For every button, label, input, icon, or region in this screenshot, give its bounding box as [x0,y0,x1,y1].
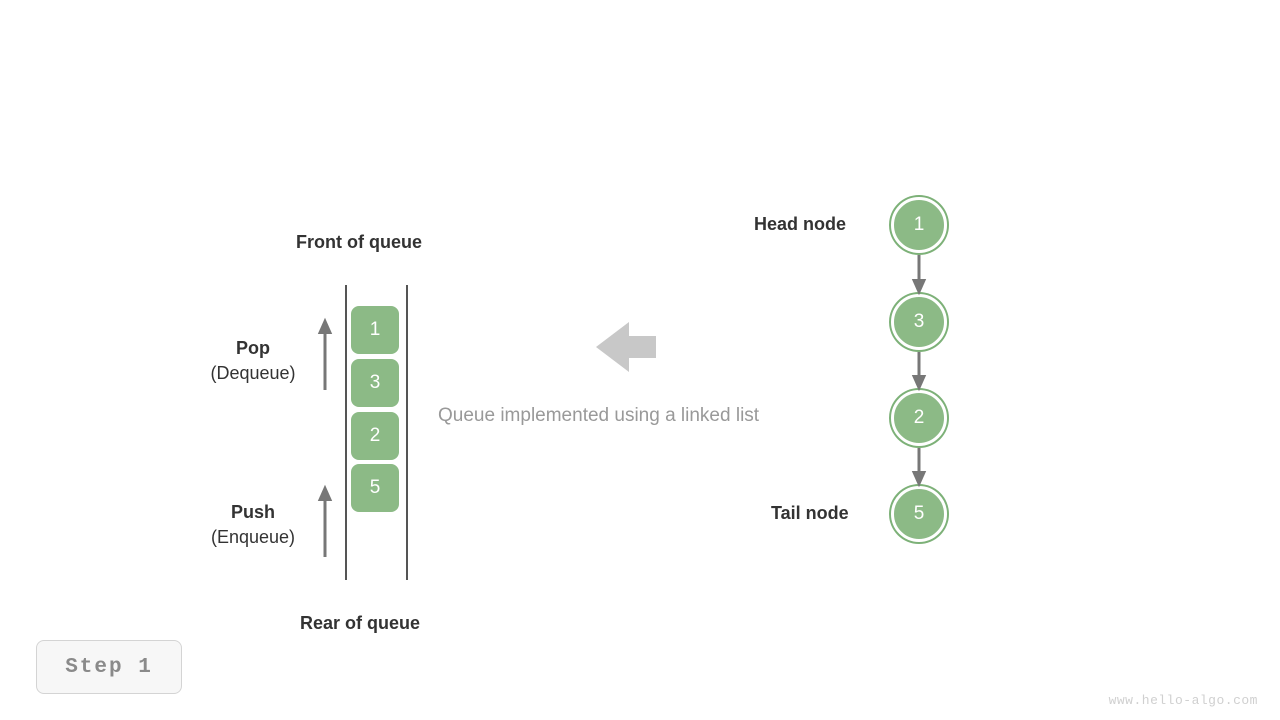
front-of-queue-label: Front of queue [296,232,422,253]
linked-list-node: 2 [891,390,947,446]
diagram-caption: Queue implemented using a linked list [438,405,759,427]
queue-rail-right [406,285,408,580]
linked-list-node: 5 [891,486,947,542]
queue-cell: 1 [351,306,399,354]
push-subtitle: (Enqueue) [163,524,343,550]
diagram-canvas: Front of queue 1 3 2 5 Pop (Dequeue) Pus… [0,0,1280,720]
head-node-label: Head node [754,214,846,235]
queue-cell: 5 [351,464,399,512]
queue-cell: 2 [351,412,399,460]
watermark: www.hello-algo.com [1109,693,1258,708]
pop-title: Pop [163,336,343,360]
queue-cell: 3 [351,359,399,407]
tail-node-label: Tail node [771,503,849,524]
push-title: Push [163,500,343,524]
arrow-left-icon [596,322,656,372]
queue-rail-left [345,285,347,580]
pop-operation-group: Pop (Dequeue) [163,336,343,386]
step-badge[interactable]: Step 1 [36,640,182,694]
pop-subtitle: (Dequeue) [163,360,343,386]
rear-of-queue-label: Rear of queue [300,613,420,634]
linked-list-node: 3 [891,294,947,350]
push-operation-group: Push (Enqueue) [163,500,343,550]
linked-list-node: 1 [891,197,947,253]
